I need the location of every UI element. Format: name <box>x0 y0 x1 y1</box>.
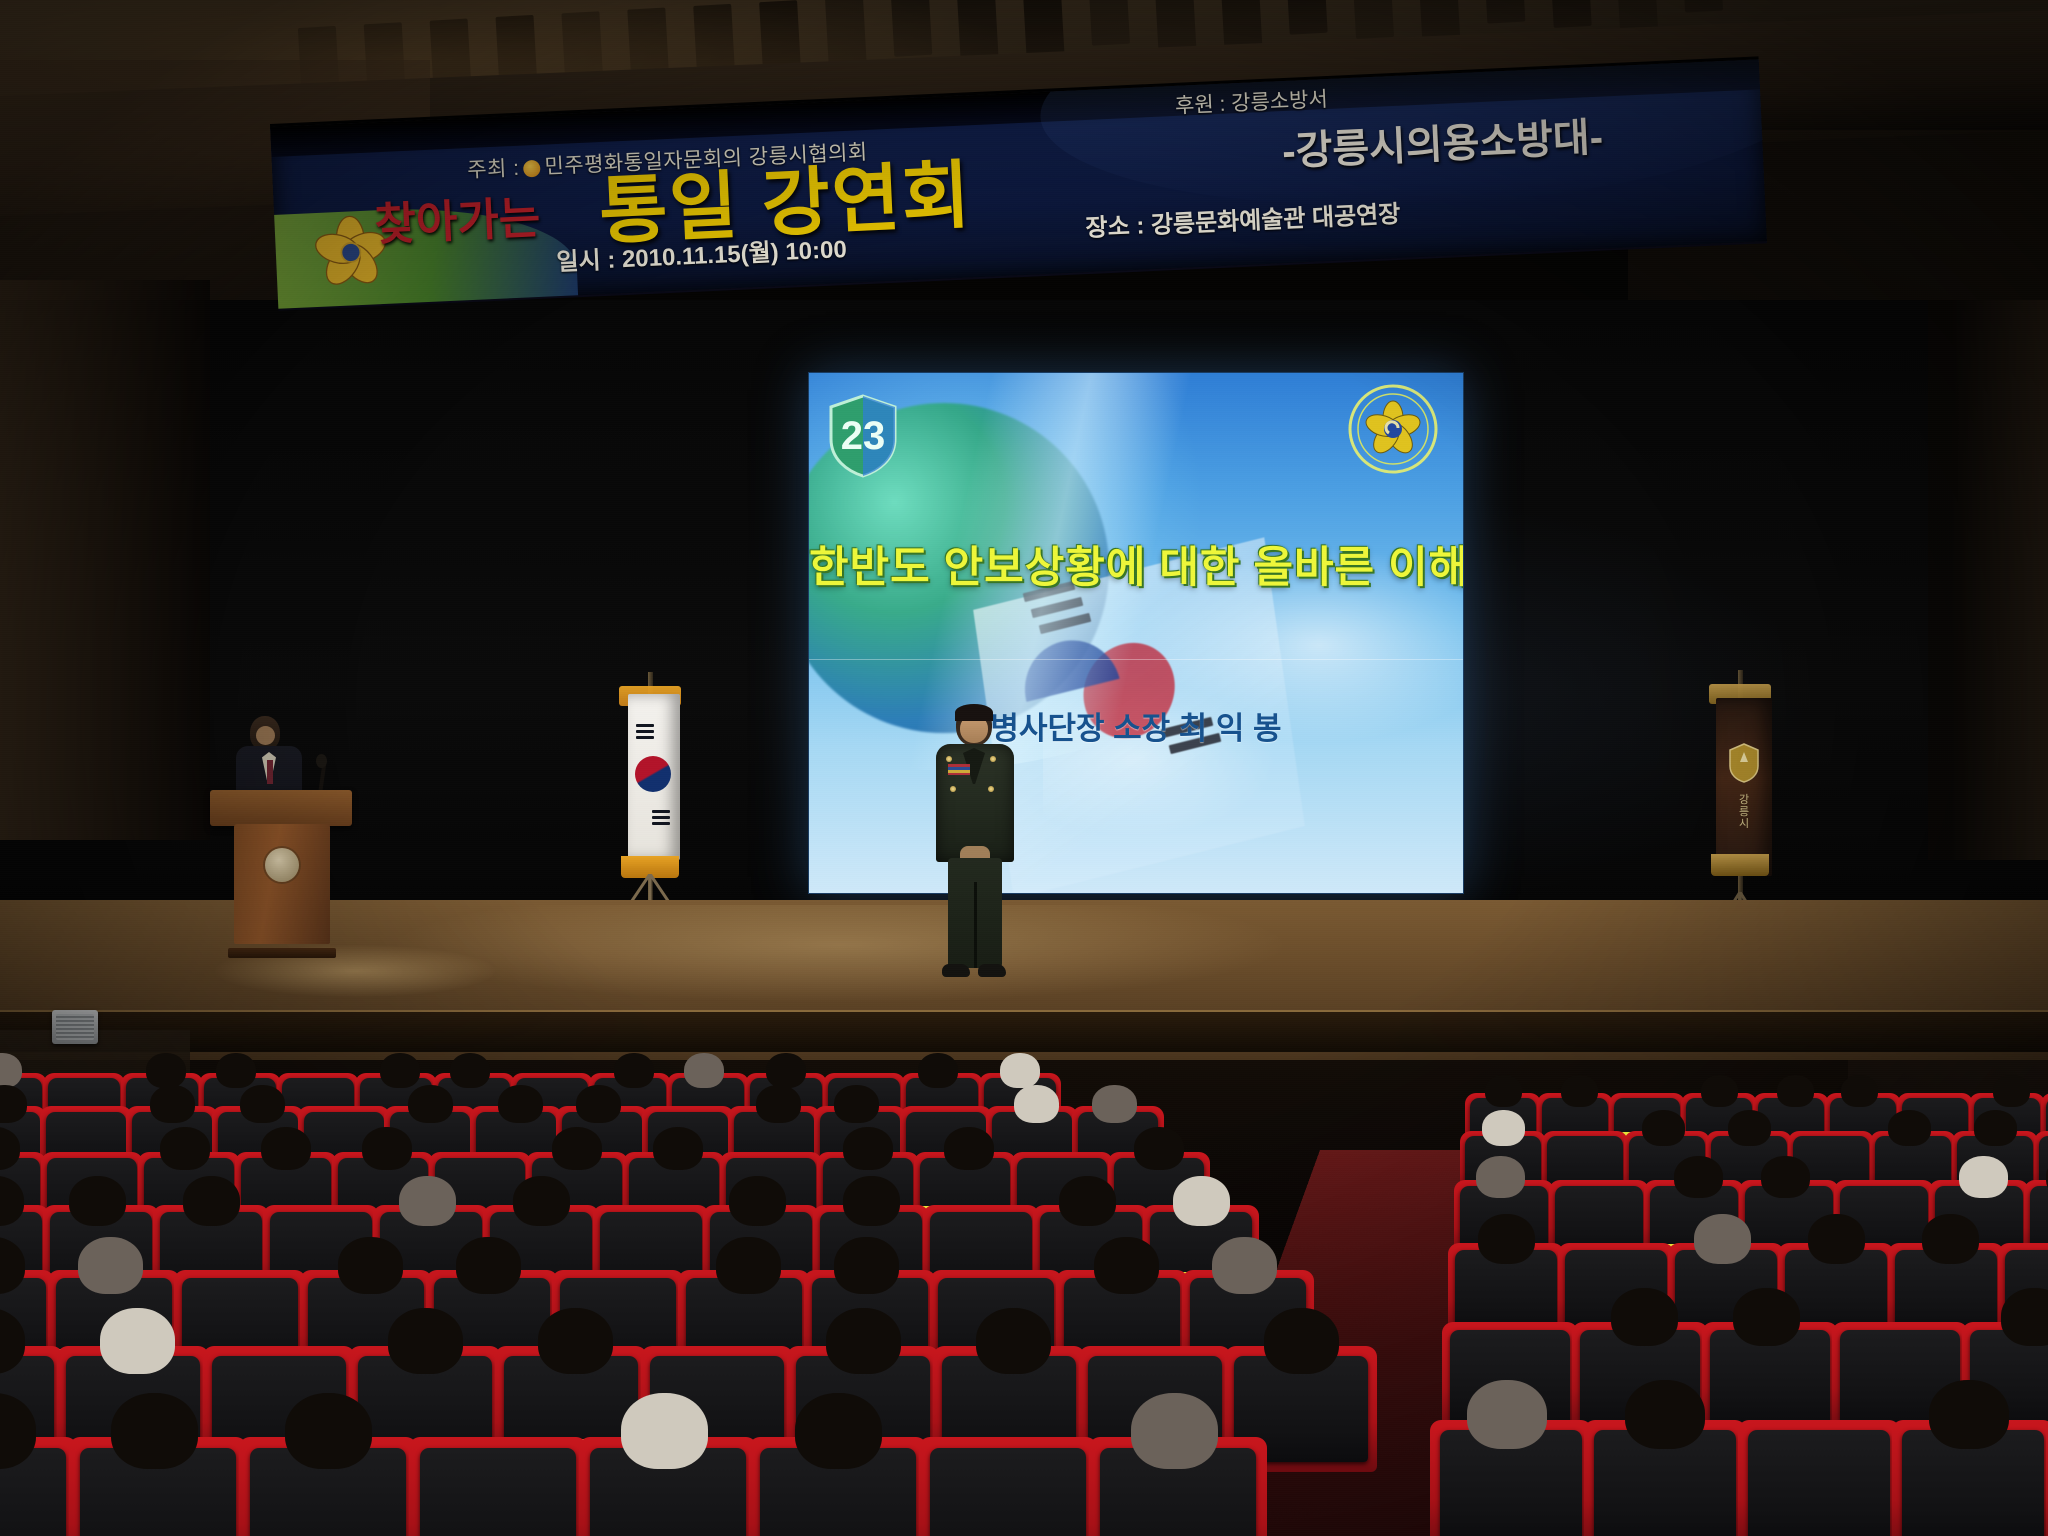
audience-member-head <box>1059 1176 1116 1226</box>
audience-member-head <box>1478 1214 1535 1264</box>
audience-member-head <box>1467 1380 1547 1449</box>
audience-member-head <box>1777 1075 1814 1107</box>
audience-member-head <box>1808 1214 1865 1264</box>
audience-member-head <box>1959 1156 2008 1198</box>
officer-nameplate-icon <box>988 786 994 792</box>
proscenium-right <box>1928 300 2048 860</box>
slide-speaker: 병사단장 소장 최 익 봉 <box>809 703 1463 748</box>
unit-flag-bottom-fringe <box>1711 854 1769 876</box>
audience-member-head <box>766 1053 806 1088</box>
audience-member-head <box>1131 1393 1218 1469</box>
slide-title: 한반도 안보상황에 대한 올바른 이해 <box>809 533 1463 595</box>
podium-microphone-icon <box>316 754 327 768</box>
audience-member-head <box>729 1176 786 1226</box>
division-shield-logo-icon: 23 <box>827 393 899 479</box>
audience-member-head <box>684 1053 724 1088</box>
audience-member-head <box>1841 1075 1878 1107</box>
audience-member-head <box>1014 1085 1059 1123</box>
host-dot-icon <box>523 160 541 178</box>
audience-member-head <box>614 1053 654 1088</box>
audience-member-head <box>160 1127 210 1170</box>
banner-subtitle: 찾아가는 <box>373 181 541 253</box>
audience-member-head <box>653 1127 703 1170</box>
audience-member-head <box>1674 1156 1723 1198</box>
audience-member-head <box>2001 1288 2048 1346</box>
audience-member-head <box>1728 1110 1771 1146</box>
auditorium-seat <box>1748 1430 1890 1536</box>
audience-member-head <box>1476 1156 1525 1198</box>
podium-body <box>234 824 330 944</box>
banner-venue: 장소 : 강릉문화예술관 대공연장 <box>1085 194 1401 243</box>
audience-member-head <box>388 1308 463 1374</box>
seat-backrest <box>930 1448 1086 1536</box>
taegukgi-cloth <box>628 694 680 860</box>
officer-shoes <box>942 964 1008 978</box>
audience-member-head <box>1134 1127 1184 1170</box>
stage-edge <box>0 1010 2048 1052</box>
audience-member-head <box>843 1127 893 1170</box>
audience-member-head <box>834 1085 879 1123</box>
audience-member-head <box>1642 1110 1685 1146</box>
officer-shoe-left <box>942 964 970 977</box>
unit-flag-crest-icon <box>1727 742 1761 784</box>
officer-medal-icon <box>950 786 956 792</box>
audience-member-head <box>1092 1085 1137 1123</box>
audience-member-head <box>498 1085 543 1123</box>
audience-member-head <box>552 1127 602 1170</box>
audience-member-head <box>100 1308 175 1374</box>
audience-member-head <box>146 1053 186 1088</box>
banner-datetime: 일시 : 2010.11.15(월) 10:00 <box>556 229 848 277</box>
moderator-face <box>256 726 275 745</box>
podium-crest-icon <box>265 848 299 882</box>
audience-member-head <box>450 1053 490 1088</box>
audience-member-head <box>1993 1075 2030 1107</box>
wall-loudspeaker-left <box>52 1010 98 1044</box>
army-rose-seal-logo-icon <box>1347 383 1439 475</box>
officer-hair <box>955 704 993 721</box>
audience-member-head <box>538 1308 613 1374</box>
screen-horizon-line <box>809 659 1463 660</box>
svg-text:23: 23 <box>841 414 886 458</box>
unit-flag-vertical-text: 강릉시 <box>1737 794 1751 830</box>
audience-member-head <box>362 1127 412 1170</box>
korean-national-flag <box>600 672 700 922</box>
audience-member-head <box>843 1176 900 1226</box>
audience-member-head <box>261 1127 311 1170</box>
auditorium-seat <box>420 1448 576 1536</box>
audience-member-head <box>944 1127 994 1170</box>
audience-member-head <box>1000 1053 1040 1088</box>
audience-member-head <box>795 1393 882 1469</box>
audience-member-head <box>1625 1380 1705 1449</box>
photo-scene: 주최 :민주평화통일자문회의 강릉시협의회 후원 : 강릉소방서 찾아가는 통일… <box>0 0 2048 1536</box>
officer-ribbon-rack <box>948 764 970 775</box>
seat-backrest <box>1748 1430 1890 1536</box>
officer-shoe-right <box>978 964 1006 977</box>
audience-member-head <box>1212 1237 1277 1294</box>
audience-member-head <box>150 1085 195 1123</box>
unit-flag-cloth: 강릉시 <box>1716 698 1772 876</box>
audience-member-head <box>1922 1214 1979 1264</box>
audience-member-head <box>826 1308 901 1374</box>
audience-member-head <box>716 1237 781 1294</box>
officer-insignia-icon <box>990 756 996 762</box>
banner-host-label: 주최 : <box>467 157 520 182</box>
military-officer-presenter <box>930 706 1020 996</box>
audience-member-head <box>1929 1380 2009 1449</box>
audience-member-head <box>1611 1288 1678 1346</box>
moderator-necktie <box>267 760 273 784</box>
audience-member-head <box>183 1176 240 1226</box>
officer-rank-badge-icon <box>946 756 952 762</box>
audience-member-head <box>1094 1237 1159 1294</box>
audience-member-head <box>399 1176 456 1226</box>
audience-member-head <box>456 1237 521 1294</box>
audience-member-head <box>918 1053 958 1088</box>
audience-member-head <box>216 1053 256 1088</box>
audience-member-head <box>1264 1308 1339 1374</box>
taeguk-circle-icon <box>635 756 671 792</box>
officer-leg-split <box>974 882 977 968</box>
audience-member-head <box>756 1085 801 1123</box>
audience-member-head <box>69 1176 126 1226</box>
audience-member-head <box>408 1085 453 1123</box>
audience-member-head <box>1974 1110 2017 1146</box>
audience-member-head <box>1482 1110 1525 1146</box>
audience-member-head <box>1761 1156 1810 1198</box>
audience-member-head <box>338 1237 403 1294</box>
auditorium-seat <box>930 1448 1086 1536</box>
audience-member-head <box>78 1237 143 1294</box>
seat-backrest <box>420 1448 576 1536</box>
podium-base <box>228 948 336 958</box>
audience-member-head <box>1733 1288 1800 1346</box>
podium <box>228 790 334 950</box>
audience-member-head <box>240 1085 285 1123</box>
audience-member-head <box>1561 1075 1598 1107</box>
audience-member-head <box>513 1176 570 1226</box>
audience-member-head <box>285 1393 372 1469</box>
audience-member-head <box>1485 1075 1522 1107</box>
audience-member-head <box>1888 1110 1931 1146</box>
audience-member-head <box>111 1393 198 1469</box>
audience-member-head <box>976 1308 1051 1374</box>
audience-member-head <box>834 1237 899 1294</box>
audience-member-head <box>1173 1176 1230 1226</box>
audience-member-head <box>380 1053 420 1088</box>
audience-member-head <box>621 1393 708 1469</box>
audience-member-head <box>1701 1075 1738 1107</box>
proscenium-left <box>0 280 210 840</box>
projection-screen: 23 한반도 안보상황에 대한 올바른 이해 병사단장 소장 최 익 봉 <box>808 372 1464 894</box>
audience-member-head <box>576 1085 621 1123</box>
podium-lectern-top <box>210 790 352 826</box>
audience-member-head <box>1694 1214 1751 1264</box>
